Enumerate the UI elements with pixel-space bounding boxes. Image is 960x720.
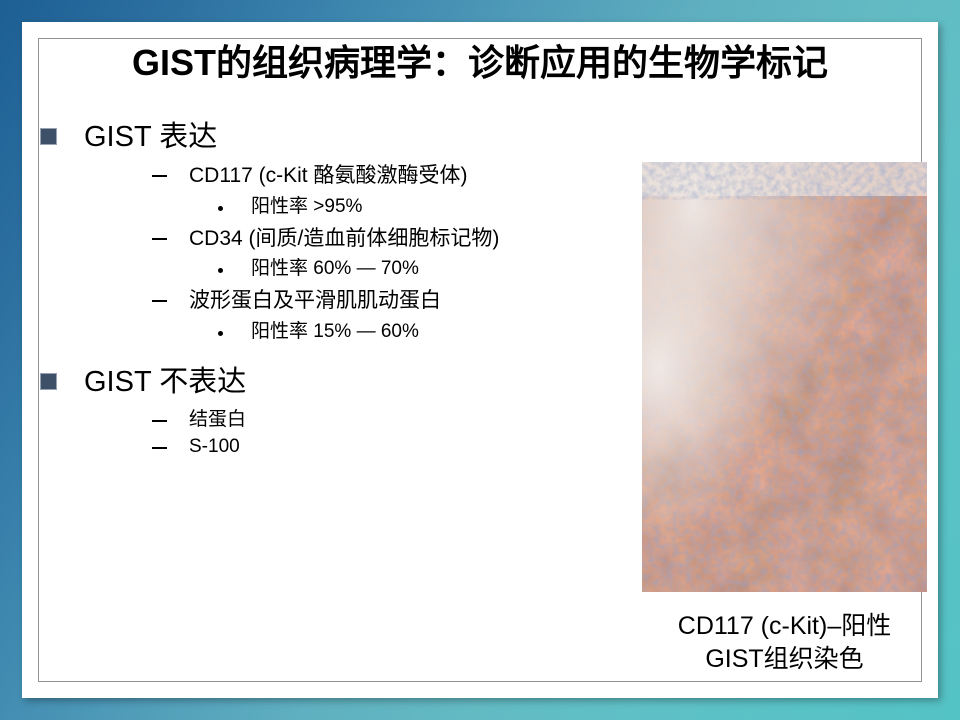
dash-bullet-icon bbox=[152, 175, 167, 177]
histology-photo bbox=[642, 162, 927, 592]
list-item: 结蛋白 bbox=[40, 407, 600, 434]
list-item: 阳性率 60% — 70% bbox=[40, 256, 600, 283]
list-item-label: 阳性率 >95% bbox=[251, 194, 362, 221]
list-item-label: 波形蛋白及平滑肌肌动蛋白 bbox=[189, 286, 441, 316]
list-item-label: CD34 (间质/造血前体细胞标记物) bbox=[189, 224, 499, 254]
list-item-label: S-100 bbox=[189, 434, 240, 461]
slide-card: GIST的组织病理学：诊断应用的生物学标记 GIST 表达 CD117 (c-K… bbox=[22, 22, 938, 698]
dash-bullet-icon bbox=[152, 420, 167, 422]
list-item: 阳性率 >95% bbox=[40, 194, 600, 221]
list-item-label: 阳性率 60% — 70% bbox=[251, 256, 419, 283]
list-item-label: CD117 (c-Kit 酪氨酸激酶受体) bbox=[189, 161, 467, 191]
section-heading-label: GIST 表达 bbox=[84, 118, 217, 157]
figure-caption-line1: CD117 (c-Kit)–阳性 bbox=[622, 610, 947, 643]
list-item: 波形蛋白及平滑肌肌动蛋白 bbox=[40, 286, 600, 316]
square-bullet-icon bbox=[40, 373, 57, 390]
list-item: CD117 (c-Kit 酪氨酸激酶受体) bbox=[40, 161, 600, 191]
list-item: 阳性率 15% — 60% bbox=[40, 319, 600, 346]
list-item-label: 阳性率 15% — 60% bbox=[251, 319, 419, 346]
round-bullet-icon bbox=[218, 206, 223, 211]
round-bullet-icon bbox=[218, 331, 223, 336]
square-bullet-icon bbox=[40, 128, 57, 145]
list-item-label: 结蛋白 bbox=[189, 407, 246, 434]
dash-bullet-icon bbox=[152, 238, 167, 240]
bullet-content: GIST 表达 CD117 (c-Kit 酪氨酸激酶受体) 阳性率 >95% C… bbox=[40, 118, 600, 462]
slide-background: GIST的组织病理学：诊断应用的生物学标记 GIST 表达 CD117 (c-K… bbox=[0, 0, 960, 720]
ihc-micrograph-svg bbox=[642, 162, 927, 592]
dash-bullet-icon bbox=[152, 447, 167, 449]
section-heading-expressed: GIST 表达 bbox=[40, 118, 600, 157]
dash-bullet-icon bbox=[152, 300, 167, 302]
section-heading-not-expressed: GIST 不表达 bbox=[40, 363, 600, 402]
slide-title: GIST的组织病理学：诊断应用的生物学标记 bbox=[22, 42, 938, 83]
list-item: CD34 (间质/造血前体细胞标记物) bbox=[40, 224, 600, 254]
list-item: S-100 bbox=[40, 434, 600, 461]
round-bullet-icon bbox=[218, 268, 223, 273]
figure-caption: CD117 (c-Kit)–阳性 GIST组织染色 bbox=[622, 610, 947, 676]
section-heading-label: GIST 不表达 bbox=[84, 363, 246, 402]
figure-caption-line2: GIST组织染色 bbox=[622, 643, 947, 676]
